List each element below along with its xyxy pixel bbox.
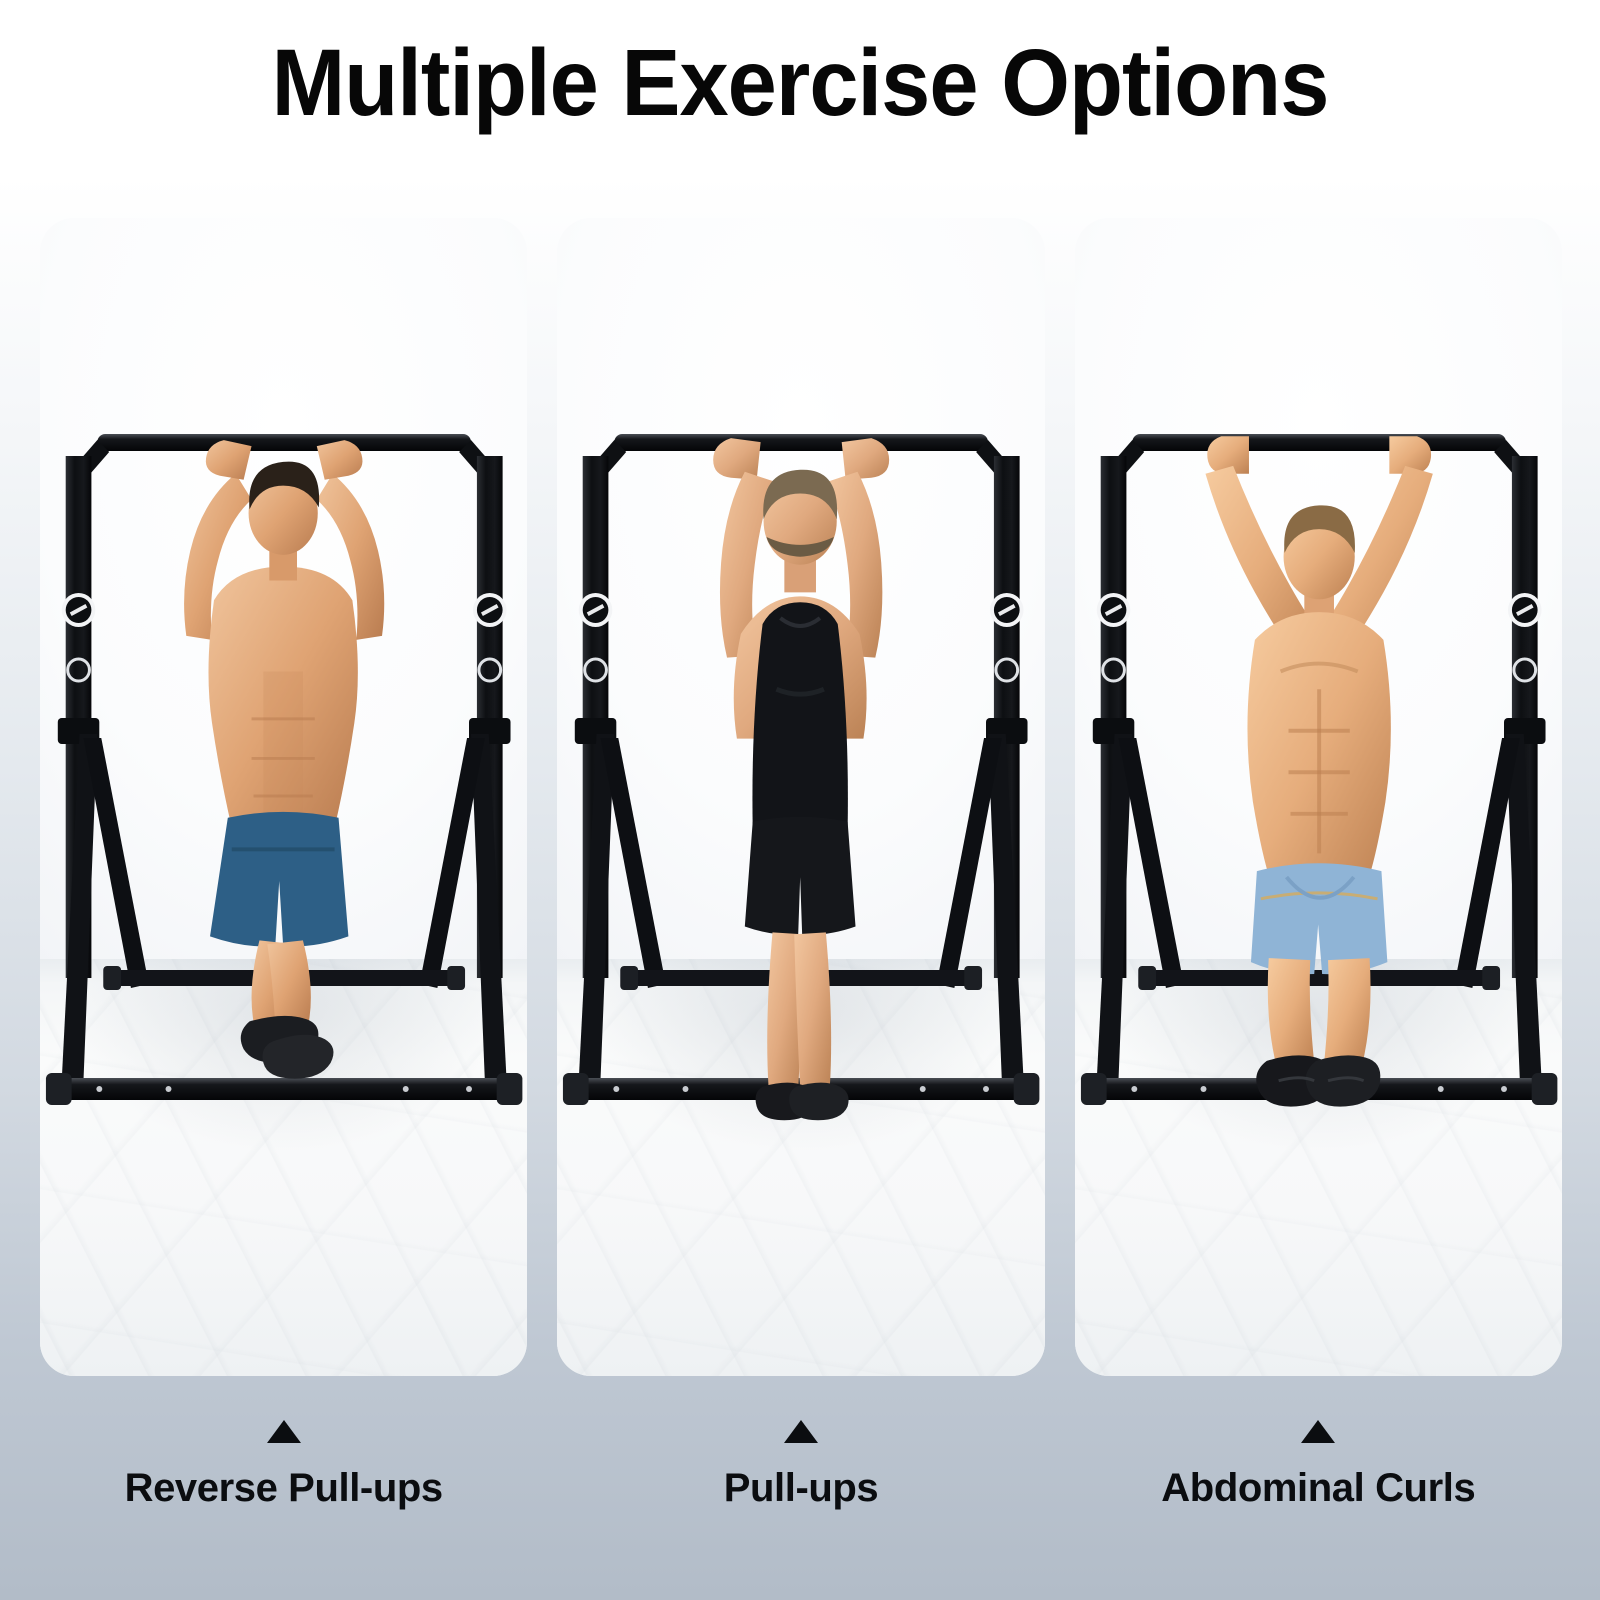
caption-pull-ups: Pull-ups [557,1420,1044,1550]
caption-row: Reverse Pull-ups Pull-ups Abdominal Curl… [40,1420,1562,1550]
triangle-up-icon [1301,1420,1335,1443]
caption-label: Pull-ups [724,1466,879,1511]
triangle-up-icon [784,1420,818,1443]
exercise-card-strip [40,218,1562,1376]
caption-reverse-pull-ups: Reverse Pull-ups [40,1420,527,1550]
triangle-up-icon [267,1420,301,1443]
caption-label: Reverse Pull-ups [125,1466,443,1511]
page-title: Multiple Exercise Options [56,30,1544,136]
athlete-figure-pull-ups [557,218,1044,1376]
exercise-card-pull-ups[interactable] [557,218,1044,1376]
athlete-figure-abdominal-curls [1075,218,1562,1376]
caption-label: Abdominal Curls [1161,1466,1475,1511]
exercise-card-reverse-pull-ups[interactable] [40,218,527,1376]
caption-abdominal-curls: Abdominal Curls [1075,1420,1562,1550]
exercise-card-abdominal-curls[interactable] [1075,218,1562,1376]
athlete-figure-reverse-pull-ups [40,218,527,1376]
